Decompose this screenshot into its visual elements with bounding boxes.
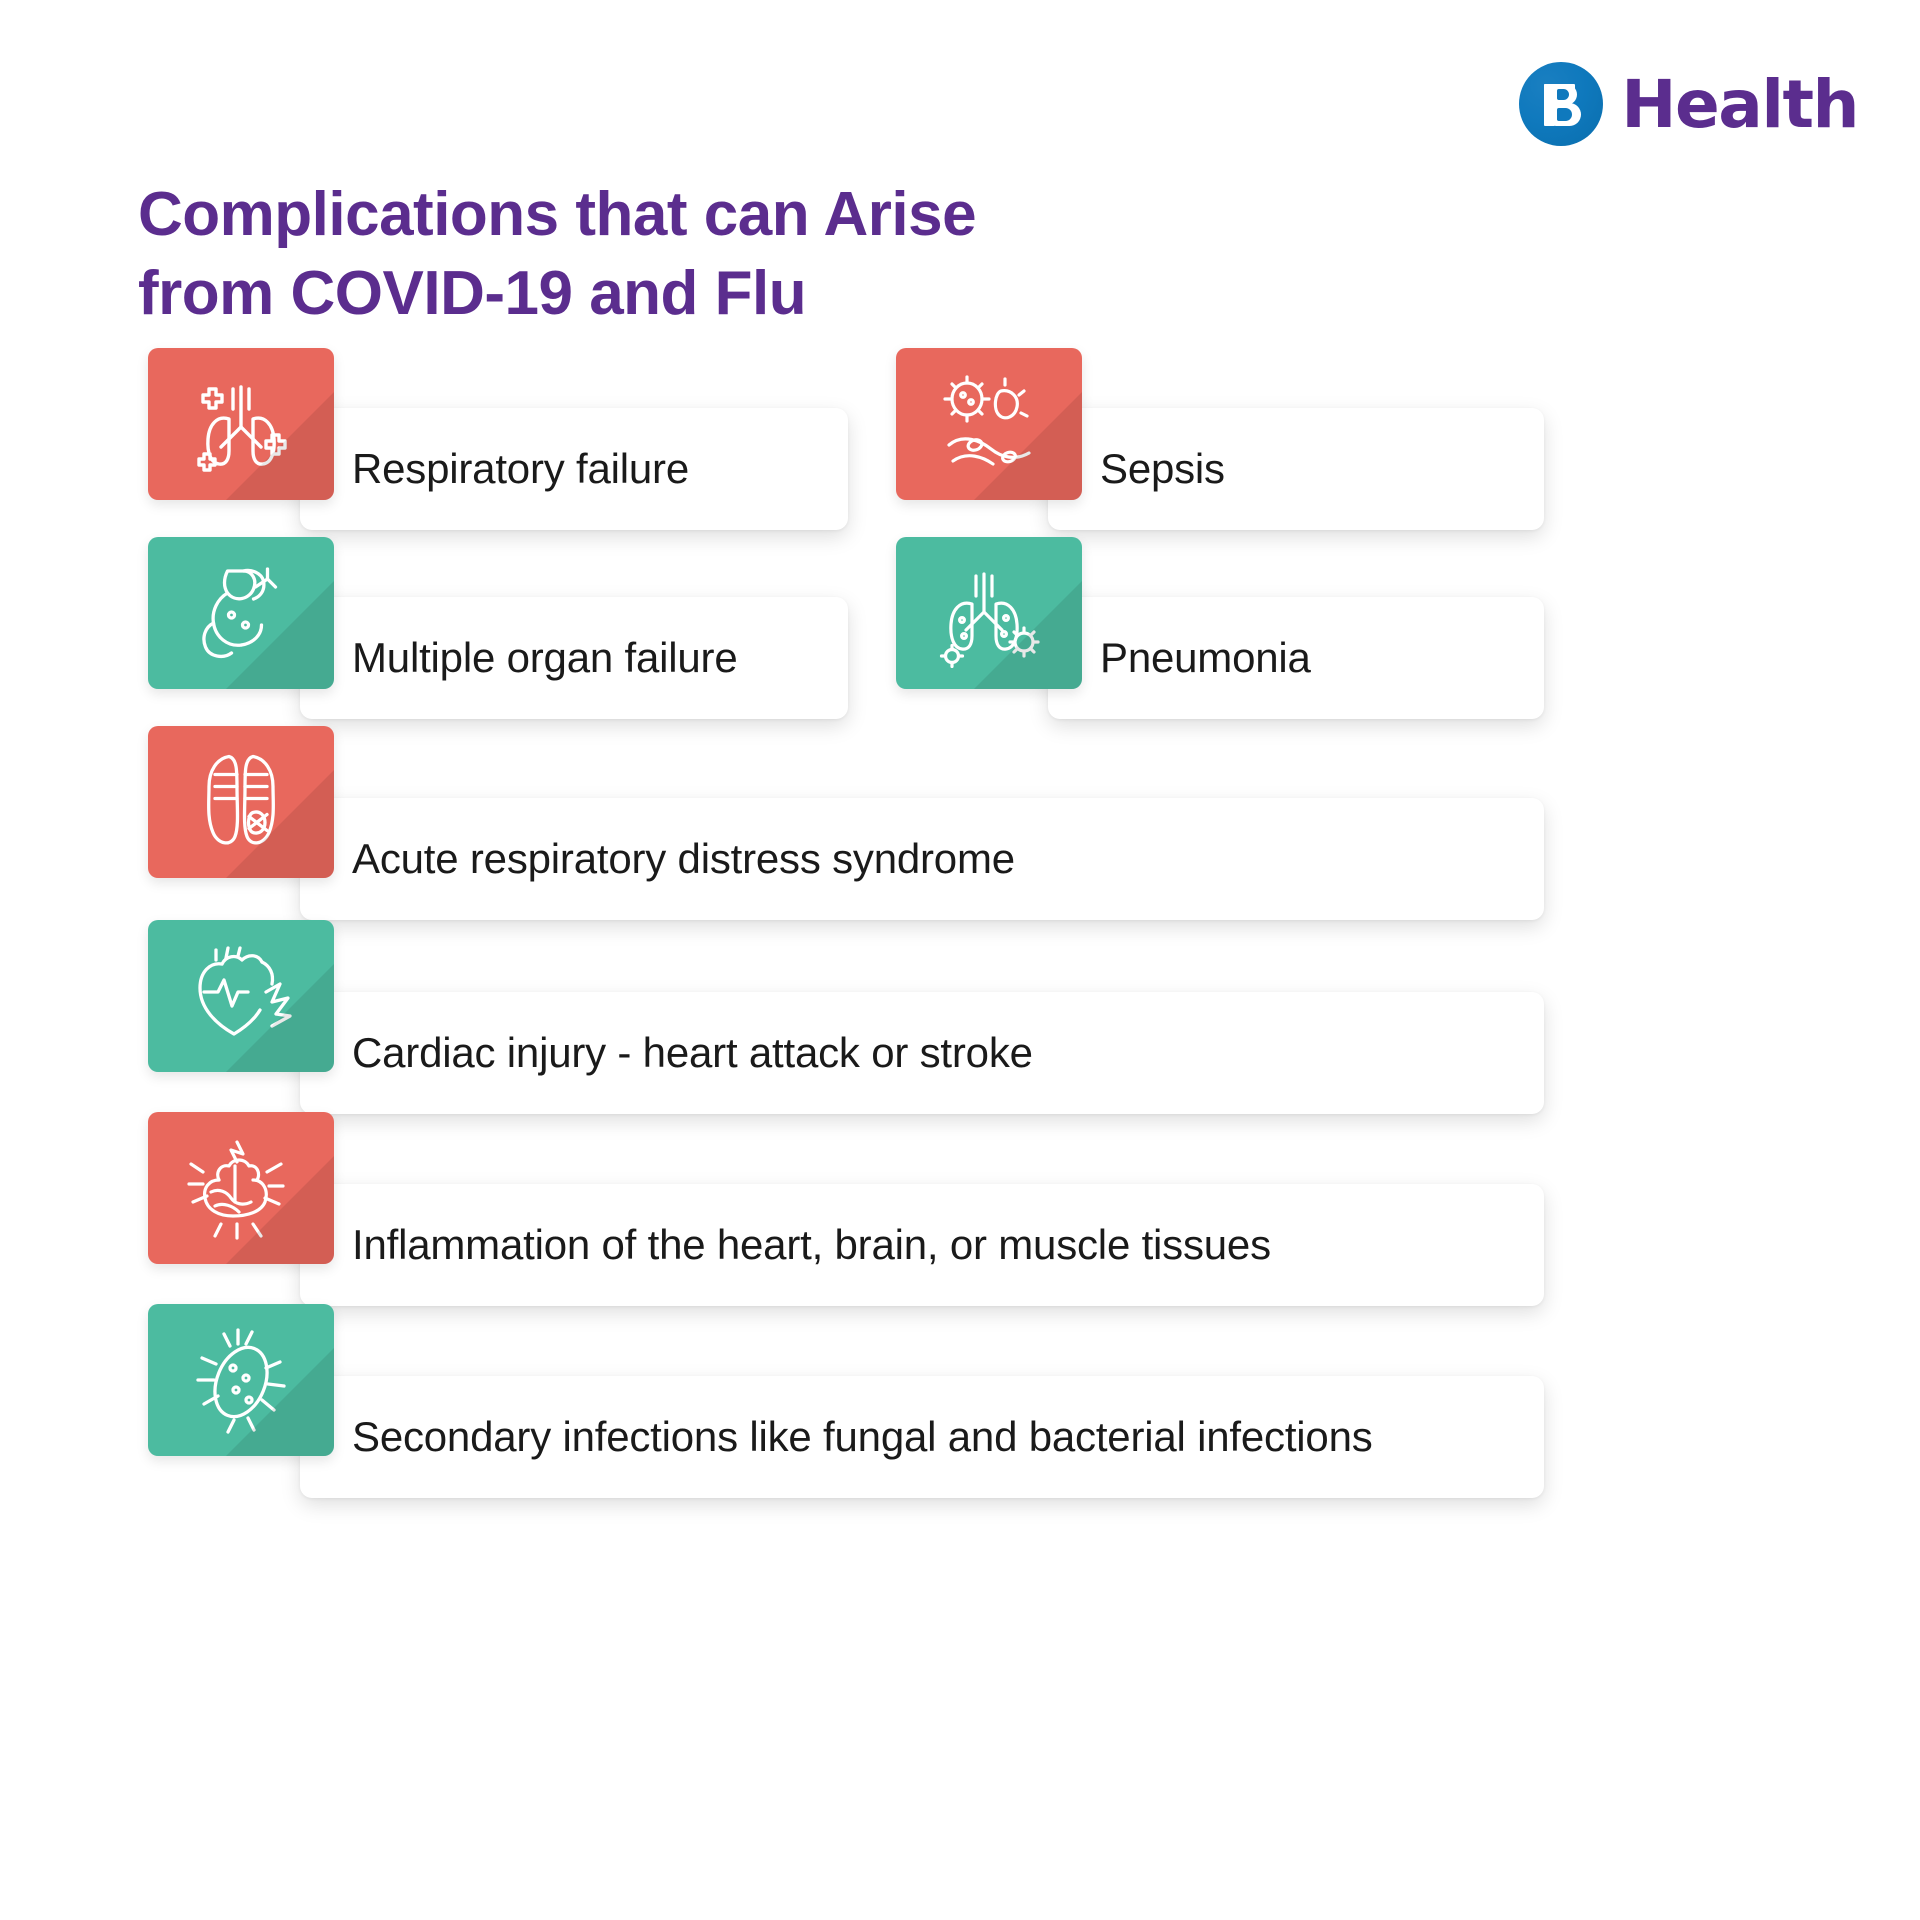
item-label: Acute respiratory distress syndrome — [300, 835, 1015, 883]
item-label: Respiratory failure — [300, 445, 689, 493]
list-item: Acute respiratory distress syndrome — [148, 726, 1544, 906]
item-icon-tile — [148, 348, 334, 500]
item-label: Inflammation of the heart, brain, or mus… — [300, 1221, 1271, 1269]
item-icon-tile — [896, 537, 1082, 689]
tile-corner-fold — [226, 1348, 334, 1456]
tile-corner-fold — [226, 581, 334, 689]
item-icon-tile — [896, 348, 1082, 500]
list-item: Inflammation of the heart, brain, or mus… — [148, 1112, 1544, 1292]
item-icon-tile — [148, 1304, 334, 1456]
item-label: Cardiac injury - heart attack or stroke — [300, 1029, 1033, 1077]
tile-corner-fold — [226, 770, 334, 878]
item-icon-tile — [148, 537, 334, 689]
list-item: Secondary infections like fungal and bac… — [148, 1304, 1544, 1484]
item-card: Acute respiratory distress syndrome — [300, 798, 1544, 920]
item-card: Multiple organ failure — [300, 597, 848, 719]
item-card: Pneumonia — [1048, 597, 1544, 719]
tile-corner-fold — [226, 392, 334, 500]
tile-corner-fold — [974, 581, 1082, 689]
item-label: Multiple organ failure — [300, 634, 737, 682]
item-card: Cardiac injury - heart attack or stroke — [300, 992, 1544, 1114]
tile-corner-fold — [974, 392, 1082, 500]
complications-list: Respiratory failure Sepsis — [0, 0, 1920, 1920]
item-icon-tile — [148, 1112, 334, 1264]
item-card: Sepsis — [1048, 408, 1544, 530]
item-card: Respiratory failure — [300, 408, 848, 530]
list-item: Multiple organ failure — [148, 537, 848, 697]
list-item: Sepsis — [896, 348, 1544, 508]
item-icon-tile — [148, 726, 334, 878]
list-item: Respiratory failure — [148, 348, 848, 508]
list-item: Pneumonia — [896, 537, 1544, 697]
list-item: Cardiac injury - heart attack or stroke — [148, 920, 1544, 1100]
item-label: Secondary infections like fungal and bac… — [300, 1413, 1373, 1461]
item-card: Secondary infections like fungal and bac… — [300, 1376, 1544, 1498]
item-label: Pneumonia — [1048, 634, 1311, 682]
item-card: Inflammation of the heart, brain, or mus… — [300, 1184, 1544, 1306]
tile-corner-fold — [226, 964, 334, 1072]
item-icon-tile — [148, 920, 334, 1072]
tile-corner-fold — [226, 1156, 334, 1264]
